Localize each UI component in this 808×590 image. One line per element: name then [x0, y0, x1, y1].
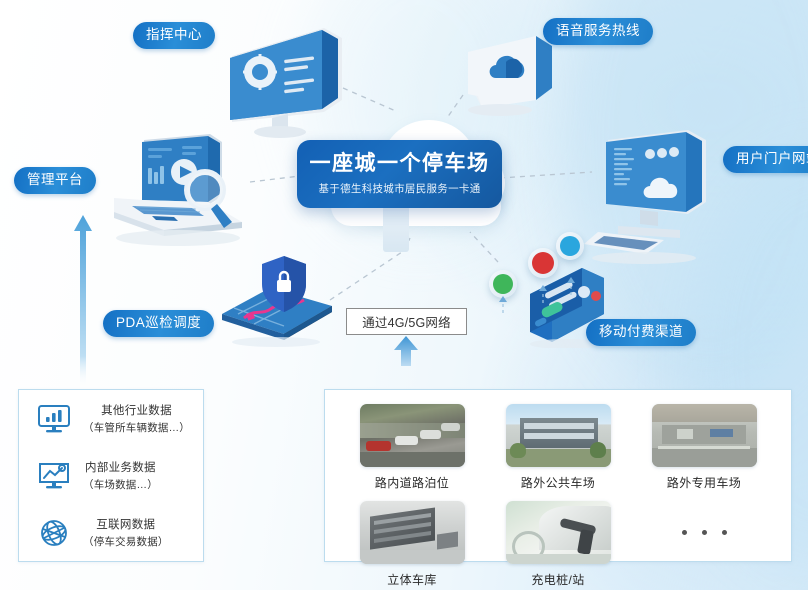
banner-subtitle: 基于德生科技城市居民服务一卡通	[319, 181, 481, 196]
label-voice-hotline[interactable]: 语音服务热线	[543, 18, 653, 45]
data-source-row[interactable]: 互联网数据 （停车交易数据）	[19, 504, 203, 561]
cloud-stem	[383, 206, 409, 252]
scenario-item[interactable]: 路外专用车场	[635, 404, 773, 491]
data-sources-panel: 其他行业数据 （车管所车辆数据…） 内部业务数据 （车场数据…）	[18, 389, 204, 562]
stacked-garage-photo	[360, 501, 465, 564]
public-parking-lot-photo	[506, 404, 611, 467]
data-source-desc: （车管所车辆数据…）	[83, 420, 190, 435]
data-source-title: 互联网数据	[83, 516, 169, 532]
scenario-more	[635, 501, 773, 588]
management-laptop-device	[92, 130, 262, 265]
portal-desktop-device	[584, 126, 734, 271]
dedicated-parking-lot-photo	[652, 404, 757, 467]
network-box: 通过4G/5G网络	[346, 308, 467, 335]
bar-chart-monitor-icon	[31, 399, 77, 439]
scenarios-panel: 路内道路泊位 路外公共车场	[324, 389, 792, 562]
scenario-caption: 路外专用车场	[667, 474, 741, 491]
data-source-desc: （停车交易数据）	[83, 534, 169, 549]
scenario-item[interactable]: 充电桩/站	[489, 501, 627, 588]
scenarios-grid: 路内道路泊位 路外公共车场	[325, 390, 791, 588]
label-command-center[interactable]: 指挥中心	[133, 22, 215, 49]
scenario-item[interactable]: 立体车库	[343, 501, 481, 588]
banner-title: 一座城一个停车场	[310, 153, 490, 174]
scenario-item[interactable]: 路外公共车场	[489, 404, 627, 491]
label-mobile-payment[interactable]: 移动付费渠道	[586, 319, 696, 346]
data-source-title: 其他行业数据	[83, 402, 190, 418]
data-source-text: 内部业务数据 （车场数据…）	[83, 459, 158, 492]
scenario-caption: 立体车库	[387, 571, 437, 588]
line-chart-monitor-icon	[31, 456, 77, 496]
label-pda-patrol[interactable]: PDA巡检调度	[103, 310, 214, 337]
pda-patrol-device	[214, 252, 344, 353]
globe-icon	[31, 513, 77, 553]
data-source-row[interactable]: 其他行业数据 （车管所车辆数据…）	[19, 390, 203, 447]
data-source-title: 内部业务数据	[83, 459, 158, 475]
data-source-text: 互联网数据 （停车交易数据）	[83, 516, 169, 549]
scenario-item[interactable]: 路内道路泊位	[343, 404, 481, 491]
diagram-canvas: 一座城一个停车场 基于德生科技城市居民服务一卡通 指挥中心 语音服务热线 管理平…	[0, 0, 808, 590]
data-source-row[interactable]: 内部业务数据 （车场数据…）	[19, 447, 203, 504]
center-banner: 一座城一个停车场 基于德生科技城市居民服务一卡通	[297, 140, 502, 208]
scenario-caption: 路外公共车场	[521, 474, 595, 491]
scenario-caption: 充电桩/站	[531, 571, 584, 588]
data-flow-arrow	[74, 215, 92, 387]
scenario-caption: 路内道路泊位	[375, 474, 449, 491]
network-up-arrow	[392, 336, 420, 366]
app-upload-arrows	[486, 255, 596, 325]
data-source-text: 其他行业数据 （车管所车辆数据…）	[83, 402, 190, 435]
ellipsis-icon	[682, 501, 727, 564]
label-management-platform[interactable]: 管理平台	[14, 167, 96, 194]
street-side-parking-photo	[360, 404, 465, 467]
ev-charging-photo	[506, 501, 611, 564]
label-user-portal[interactable]: 用户门户网站	[723, 146, 808, 173]
data-source-desc: （车场数据…）	[83, 477, 158, 492]
